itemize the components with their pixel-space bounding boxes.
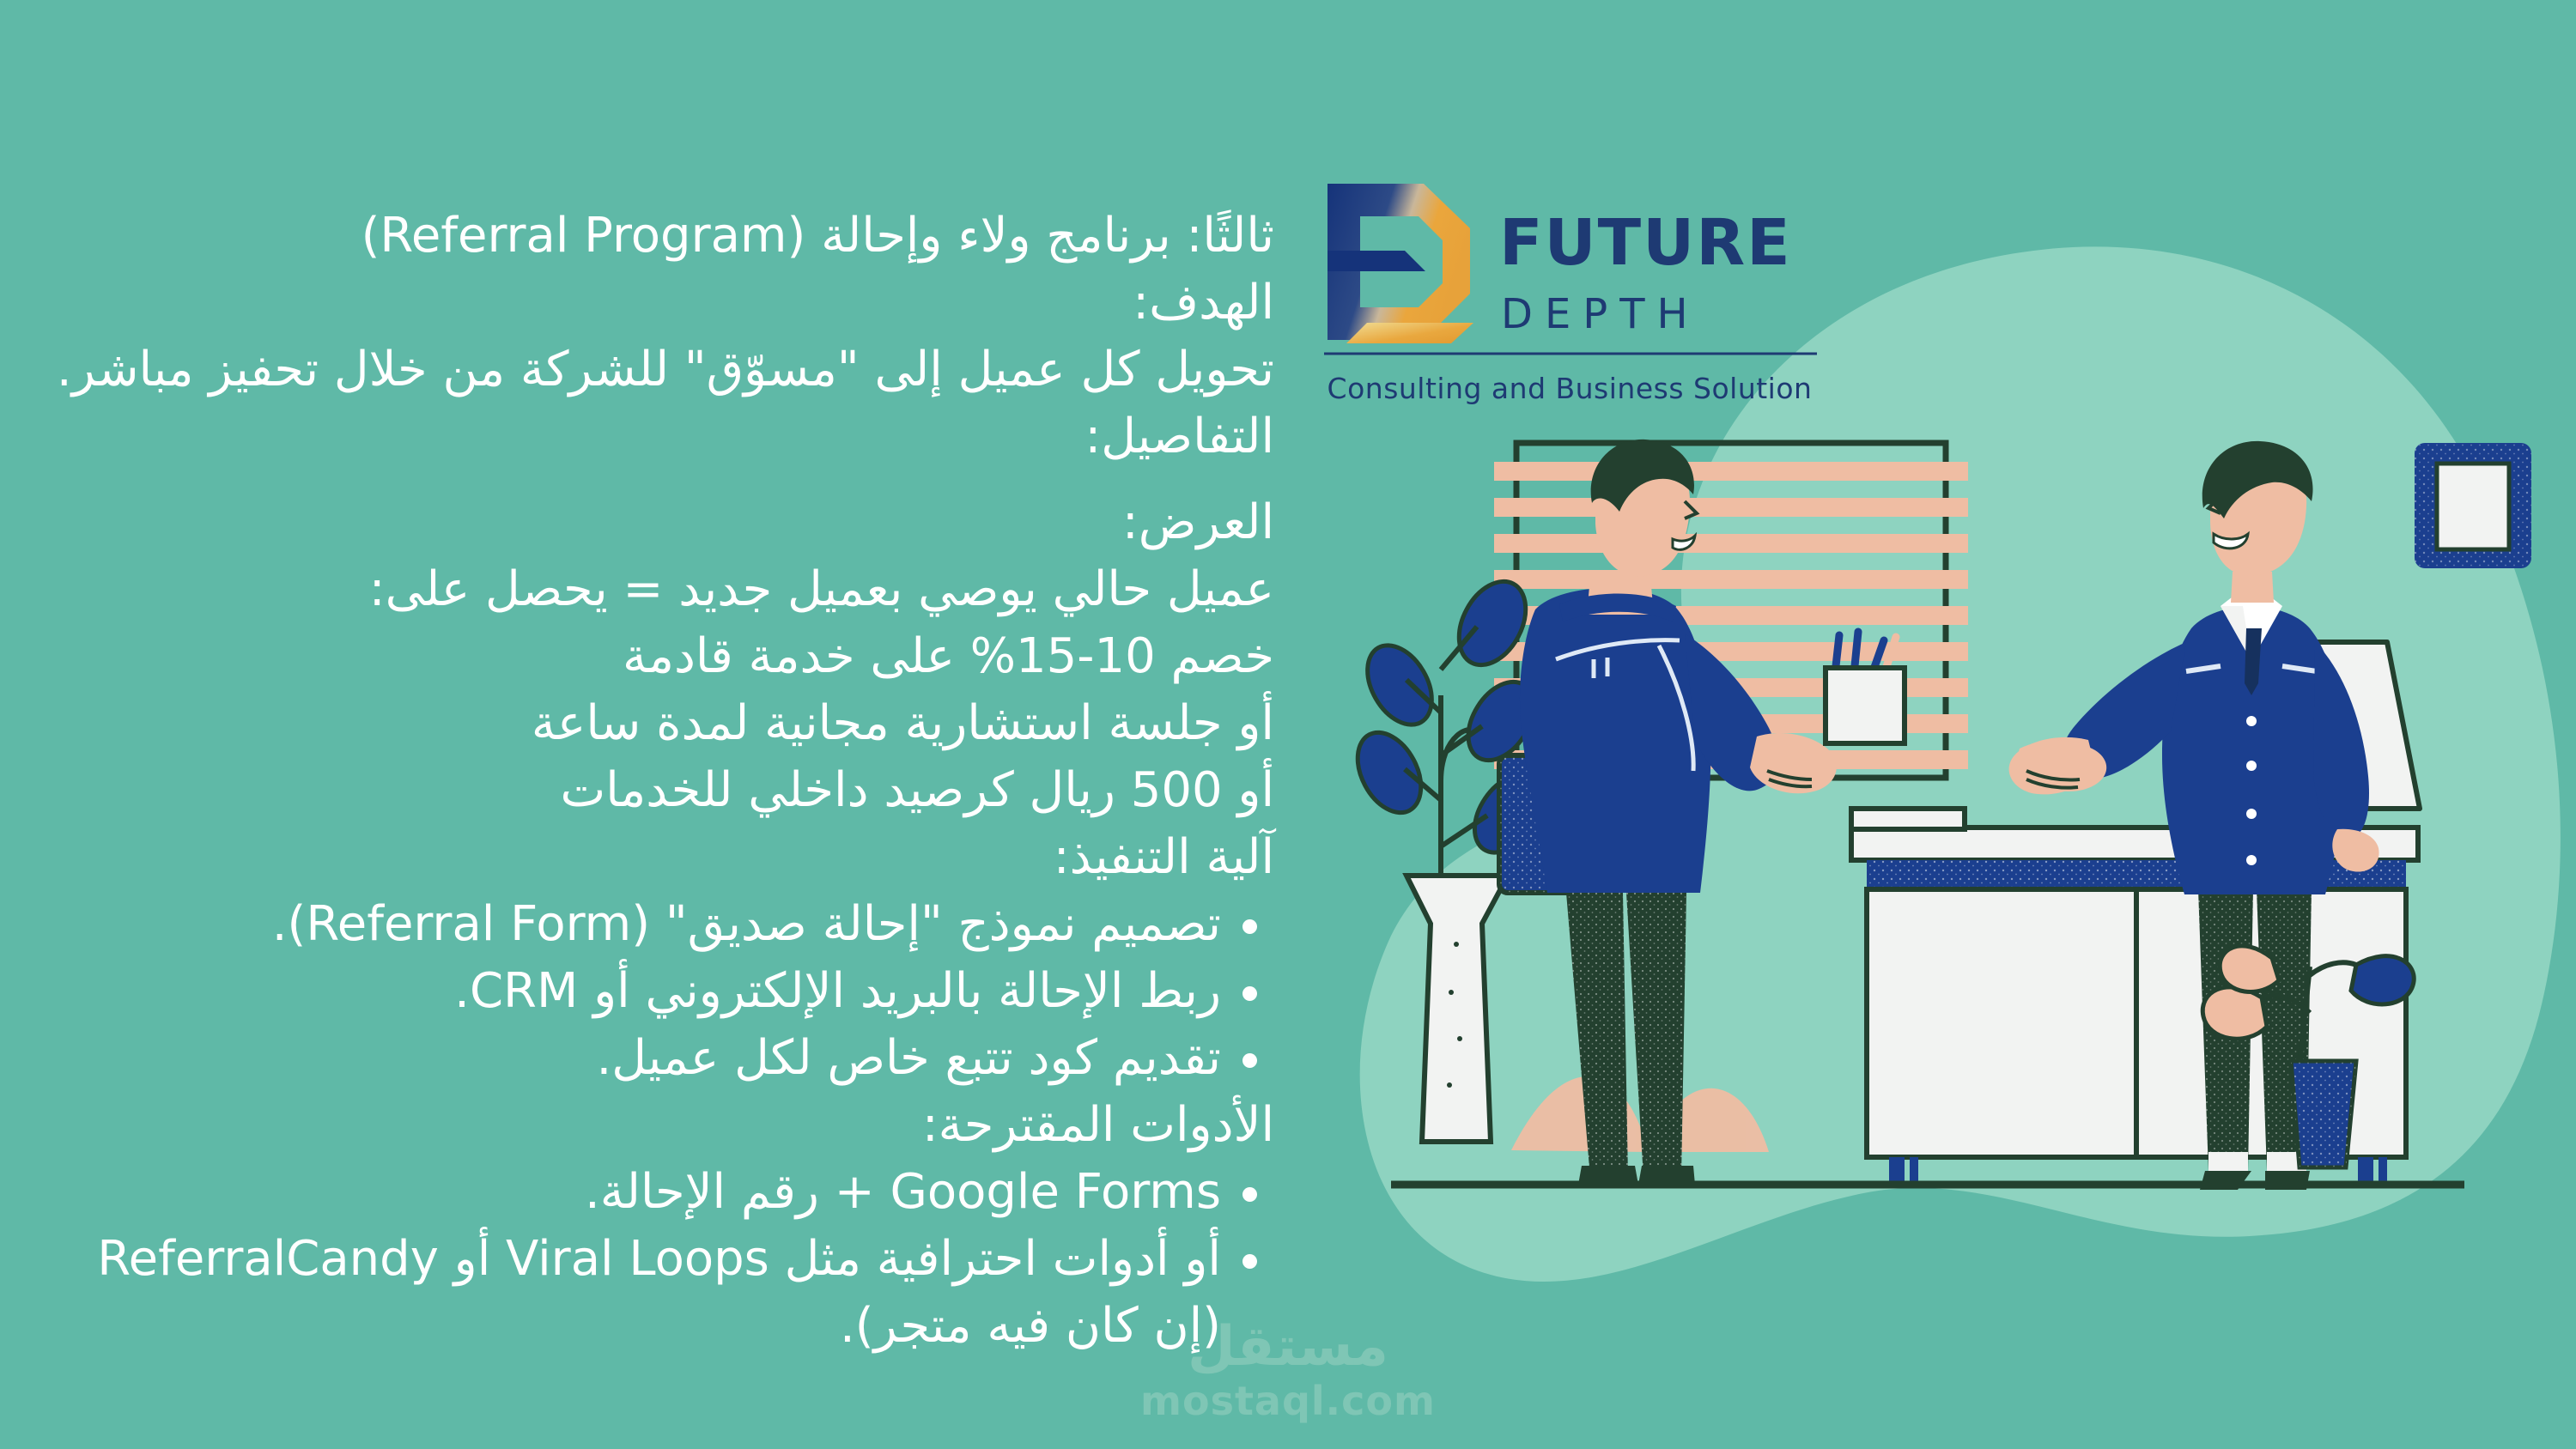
- tools-bullet-list: Google Forms + رقم الإحالة. أو أدوات احت…: [52, 1159, 1274, 1360]
- watermark-latin: mostaql.com: [1140, 1378, 1436, 1424]
- spacer-1: [52, 470, 1274, 489]
- list-item: ربط الإحالة بالبريد الإلكتروني أو CRM.: [52, 958, 1274, 1025]
- offer-item-credit: أو 500 ريال كرصيد داخلي للخدمات: [52, 757, 1274, 824]
- picture-frame-icon: [2415, 443, 2531, 568]
- goal-label: الهدف:: [52, 270, 1274, 336]
- office-handshake-illustration: [1340, 412, 2542, 1219]
- mostaql-watermark: مستقل mostaql.com: [1108, 1305, 1468, 1434]
- mechanism-bullet-list: تصميم نموذج "إحالة صديق" (Referral Form)…: [52, 891, 1274, 1092]
- list-item: تقديم كود تتبع خاص لكل عميل.: [52, 1025, 1274, 1092]
- heading-line: ثالثًا: برنامج ولاء وإحالة (Referral Pro…: [52, 203, 1274, 270]
- watermark-arabic: مستقل: [1188, 1315, 1388, 1379]
- tools-label: الأدوات المقترحة:: [52, 1092, 1274, 1159]
- offer-item-discount: خصم 10-15% على خدمة قادمة: [52, 623, 1274, 690]
- fd-monogram-icon: [1327, 184, 1473, 343]
- list-item: تصميم نموذج "إحالة صديق" (Referral Form)…: [52, 891, 1274, 958]
- goal-text: تحويل كل عميل إلى "مسوّق" للشركة من خلال…: [52, 336, 1274, 403]
- offer-intro: عميل حالي يوصي بعميل جديد = يحصل على:: [52, 556, 1274, 623]
- offer-item-consultation: أو جلسة استشارية مجانية لمدة ساعة: [52, 690, 1274, 757]
- details-label: التفاصيل:: [52, 403, 1274, 470]
- list-item: Google Forms + رقم الإحالة.: [52, 1159, 1274, 1226]
- offer-label: العرض:: [52, 489, 1274, 556]
- content-text-column: ثالثًا: برنامج ولاء وإحالة (Referral Pro…: [52, 203, 1274, 1360]
- logo-title-depth: DEPTH: [1501, 290, 1700, 338]
- logo-title-future: FUTURE: [1499, 206, 1792, 280]
- mechanism-label: آلية التنفيذ:: [52, 824, 1274, 891]
- brand-logo: FUTURE DEPTH Consulting and Business Sol…: [1322, 172, 1855, 421]
- logo-tagline: Consulting and Business Solution: [1327, 372, 1813, 405]
- list-item: أو أدوات احترافية مثل Viral Loops أو Ref…: [52, 1226, 1274, 1360]
- slide-root: ثالثًا: برنامج ولاء وإحالة (Referral Pro…: [0, 0, 2576, 1449]
